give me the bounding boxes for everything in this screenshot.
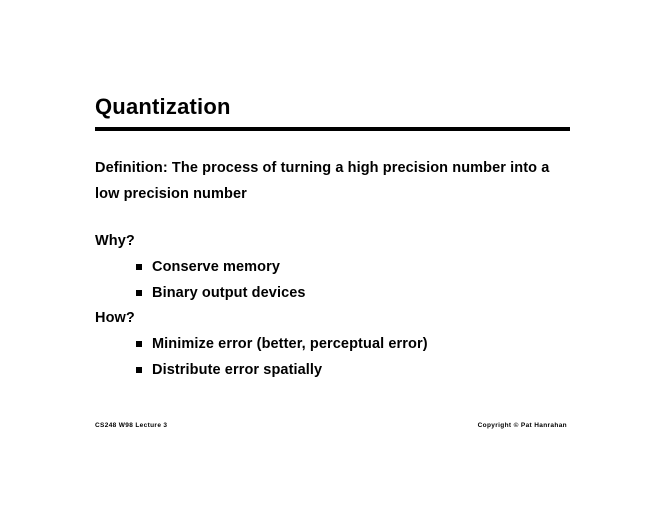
section-heading-how: How?	[95, 309, 135, 327]
bullet-item-minimize-error: Minimize error (better, perceptual error…	[136, 335, 428, 353]
bullet-item-conserve-memory: Conserve memory	[136, 258, 280, 276]
section-heading-why: Why?	[95, 232, 135, 250]
square-bullet-icon	[136, 341, 142, 347]
slide-title: Quantization	[95, 94, 231, 120]
bullet-item-distribute-error: Distribute error spatially	[136, 361, 322, 379]
bullet-label: Binary output devices	[152, 284, 306, 302]
footer-copyright: Copyright © Pat Hanrahan	[478, 422, 567, 429]
slide-body: Definition: The process of turning a hig…	[95, 155, 595, 207]
title-underline-rule	[95, 127, 570, 131]
square-bullet-icon	[136, 264, 142, 270]
bullet-label: Minimize error (better, perceptual error…	[152, 335, 428, 353]
definition-paragraph: Definition: The process of turning a hig…	[95, 155, 575, 207]
square-bullet-icon	[136, 290, 142, 296]
bullet-label: Distribute error spatially	[152, 361, 322, 379]
bullet-label: Conserve memory	[152, 258, 280, 276]
slide-canvas: Quantization Definition: The process of …	[0, 0, 660, 510]
bullet-item-binary-output-devices: Binary output devices	[136, 284, 306, 302]
square-bullet-icon	[136, 367, 142, 373]
footer-course-label: CS248 W98 Lecture 3	[95, 422, 167, 429]
